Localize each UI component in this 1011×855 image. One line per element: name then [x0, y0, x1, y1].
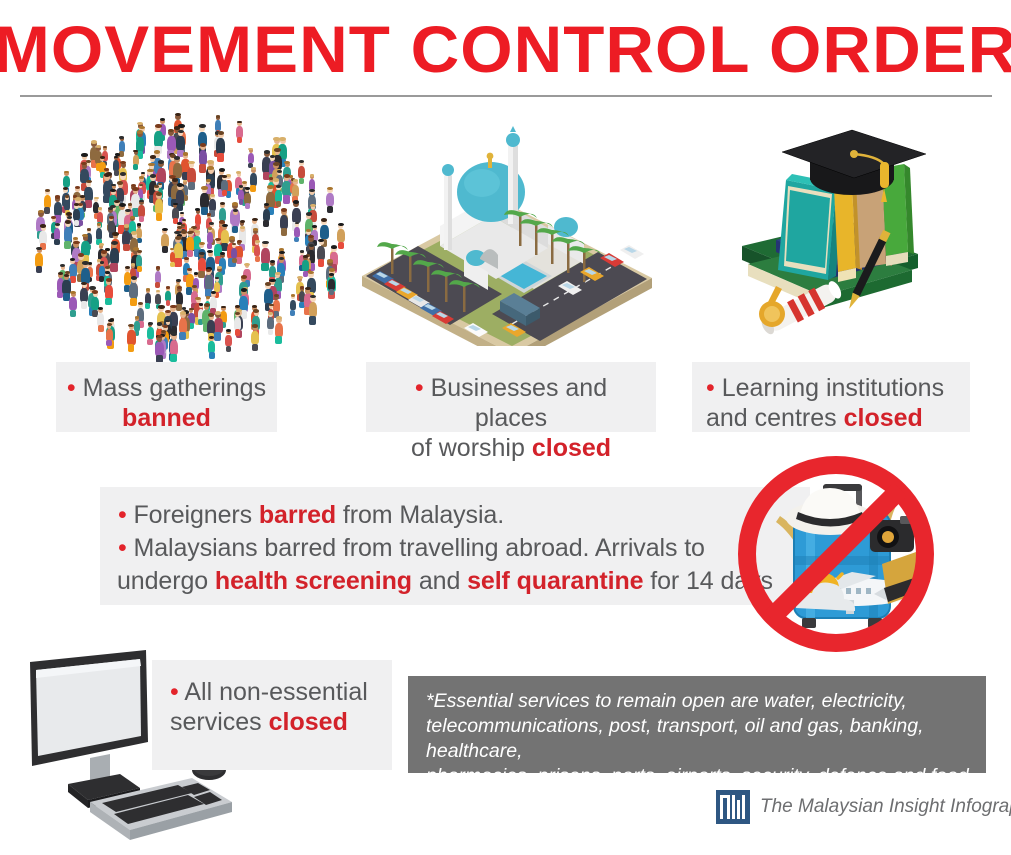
- card-2-strong: closed: [532, 434, 611, 462]
- card-mass-gatherings: • Mass gatherings banned: [56, 362, 277, 432]
- infographic-root: MOVEMENT CONTROL ORDER: [0, 0, 1011, 855]
- travel-bullet-1: • Foreigners barred from Malaysia.: [118, 499, 810, 532]
- card-1-strong: banned: [122, 404, 211, 432]
- travel-restrictions-panel: • Foreigners barred from Malaysia. • Mal…: [100, 487, 810, 605]
- services-strong: closed: [269, 708, 348, 736]
- bullet-dot: •: [706, 374, 715, 402]
- card-3-line-2: and centres: [706, 404, 844, 432]
- education-illustration: [706, 118, 986, 353]
- note-line-1: *Essential services to remain open are w…: [426, 689, 974, 714]
- note-line-2: telecommunications, post, transport, oil…: [426, 714, 974, 764]
- bullet-dot: •: [170, 678, 179, 706]
- travel-bullet-2-cont: undergo health screening and self quaran…: [117, 565, 810, 598]
- card-3-strong: closed: [844, 404, 923, 432]
- page-title: MOVEMENT CONTROL ORDER: [0, 14, 1011, 84]
- bullet-dot: •: [67, 374, 76, 402]
- services-line-1: All non-essential: [184, 678, 367, 706]
- bullet-dot: •: [118, 501, 127, 529]
- card-3-line-1: Learning institutions: [722, 374, 944, 402]
- bullet-dot: •: [415, 374, 424, 402]
- travel-bullet-2: • Malaysians barred from travelling abro…: [118, 532, 810, 565]
- services-line-2: services: [170, 708, 269, 736]
- no-travel-icon: [738, 456, 934, 652]
- tmi-logo-icon: [716, 790, 750, 824]
- card-businesses-worship: • Businesses and places of worship close…: [366, 362, 656, 432]
- crowd-illustration: [30, 108, 350, 358]
- mosque-illustration: [352, 126, 662, 346]
- footer-credit: The Malaysian Insight Infographic: [716, 790, 1011, 824]
- bullet-dot: •: [118, 534, 127, 562]
- card-1-line-1: Mass gatherings: [83, 374, 266, 402]
- footer-credit-text: The Malaysian Insight Infographic: [760, 796, 1011, 818]
- card-2-line-1: Businesses and places: [431, 374, 608, 432]
- non-essential-services-panel: • All non-essential services closed: [152, 660, 392, 770]
- note-line-3: pharmacies, prisons, ports, airports, se…: [426, 764, 974, 789]
- essential-services-note: *Essential services to remain open are w…: [408, 676, 986, 773]
- card-learning-institutions: • Learning institutions and centres clos…: [692, 362, 970, 432]
- card-2-line-2: of worship: [411, 434, 532, 462]
- header-divider: [20, 95, 992, 97]
